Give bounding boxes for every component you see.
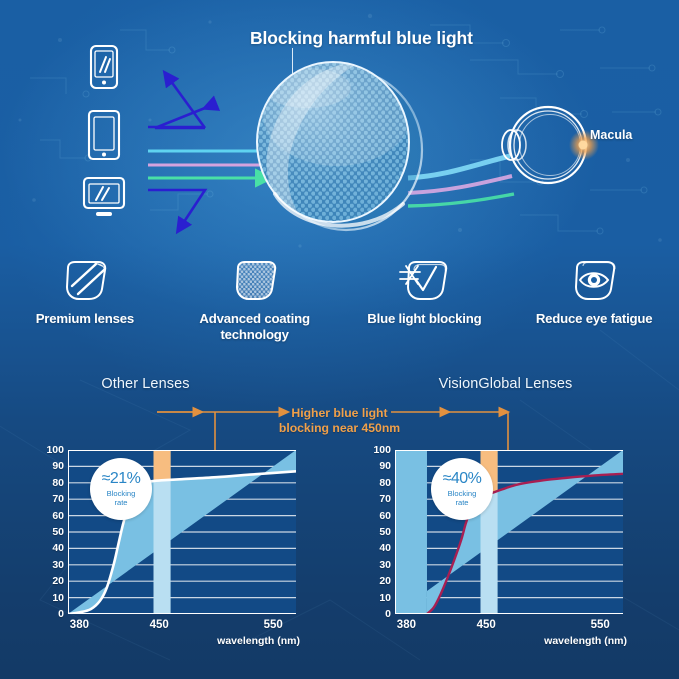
blue-light-block-icon [396, 256, 452, 306]
y-axis-tick-label: 60 [379, 510, 391, 522]
y-axis-tick-label: 100 [373, 444, 391, 456]
y-axis-tick-label: 30 [379, 559, 391, 571]
y-axis-tick-label: 80 [52, 477, 64, 489]
features-row: Premium lenses [0, 250, 679, 362]
blocking-rate-badge: ≈40%Blockingrate [431, 458, 493, 520]
y-axis-tick-label: 30 [52, 559, 64, 571]
x-axis-label: wavelength (nm) [217, 635, 300, 647]
chart-svg [395, 450, 623, 614]
feature-blue-light-blocking: Blue light blocking [340, 250, 510, 362]
y-axis-tick-label: 70 [379, 493, 391, 505]
chart-title: VisionGlobal Lenses [336, 376, 675, 392]
y-axis-tick-label: 10 [52, 592, 64, 604]
feature-label: Reduce eye fatigue [536, 311, 653, 327]
feature-label: Advanced coating technology [179, 311, 331, 342]
plot-area-other-lenses: 0102030405060708090100380450550wavelengt… [68, 450, 296, 614]
y-axis-tick-label: 10 [379, 592, 391, 604]
coating-mesh-icon [230, 256, 280, 306]
eye-fatigue-icon [567, 256, 621, 306]
blocking-rate-caption: Blockingrate [448, 490, 477, 507]
y-axis-tick-label: 90 [379, 460, 391, 472]
x-axis-tick-label: 550 [591, 619, 610, 631]
y-axis-tick-label: 100 [46, 444, 64, 456]
blocking-rate-value: ≈40% [443, 471, 482, 487]
y-axis-tick-label: 50 [379, 526, 391, 538]
blocking-rate-caption: Blockingrate [107, 490, 136, 507]
chart-title: Other Lenses [0, 376, 315, 392]
blue-reflected-ray-bottom [148, 190, 205, 231]
comparison-charts: Higher blue light blocking near 450nm Ot… [0, 368, 679, 679]
feature-label: Blue light blocking [367, 311, 481, 327]
macula-label: Macula [590, 128, 632, 142]
y-axis-tick-label: 20 [52, 575, 64, 587]
blocking-rate-value: ≈21% [102, 471, 141, 487]
blue-light-blocking-lens [245, 58, 435, 238]
x-axis-tick-label: 380 [70, 619, 89, 631]
y-axis-tick-label: 90 [52, 460, 64, 472]
hero-section: Blocking harmful blue light [0, 0, 679, 250]
x-axis-tick-label: 550 [264, 619, 283, 631]
y-axis-tick-label: 50 [52, 526, 64, 538]
y-axis-tick-label: 0 [385, 608, 391, 620]
feature-label: Premium lenses [36, 311, 134, 327]
y-axis-tick-label: 20 [379, 575, 391, 587]
x-axis-tick-label: 450 [150, 619, 169, 631]
x-axis-tick-label: 380 [397, 619, 416, 631]
feature-reduce-eye-fatigue: Reduce eye fatigue [509, 250, 679, 362]
y-axis-tick-label: 0 [58, 608, 64, 620]
y-axis-tick-label: 80 [379, 477, 391, 489]
premium-lens-icon [60, 256, 110, 306]
feature-advanced-coating: Advanced coating technology [170, 250, 340, 362]
eye-anatomy-icon [492, 95, 602, 195]
blue-reflected-ray-top [148, 73, 205, 128]
chart-panel-visionglobal-lenses: VisionGlobal Lenses 01020304050607080901… [340, 368, 679, 679]
blocking-rate-badge: ≈21%Blockingrate [90, 458, 152, 520]
y-axis-tick-label: 60 [52, 510, 64, 522]
chart-panel-other-lenses: Other Lenses 010203040506070809010038045… [0, 368, 339, 679]
x-axis-label: wavelength (nm) [544, 635, 627, 647]
infographic-page: Blocking harmful blue light [0, 0, 679, 679]
y-axis-tick-label: 70 [52, 493, 64, 505]
x-axis-tick-label: 450 [477, 619, 496, 631]
y-axis-tick-label: 40 [52, 542, 64, 554]
feature-premium-lenses: Premium lenses [0, 250, 170, 362]
plot-area-visionglobal-lenses: 0102030405060708090100380450550wavelengt… [395, 450, 623, 614]
y-axis-tick-label: 40 [379, 542, 391, 554]
